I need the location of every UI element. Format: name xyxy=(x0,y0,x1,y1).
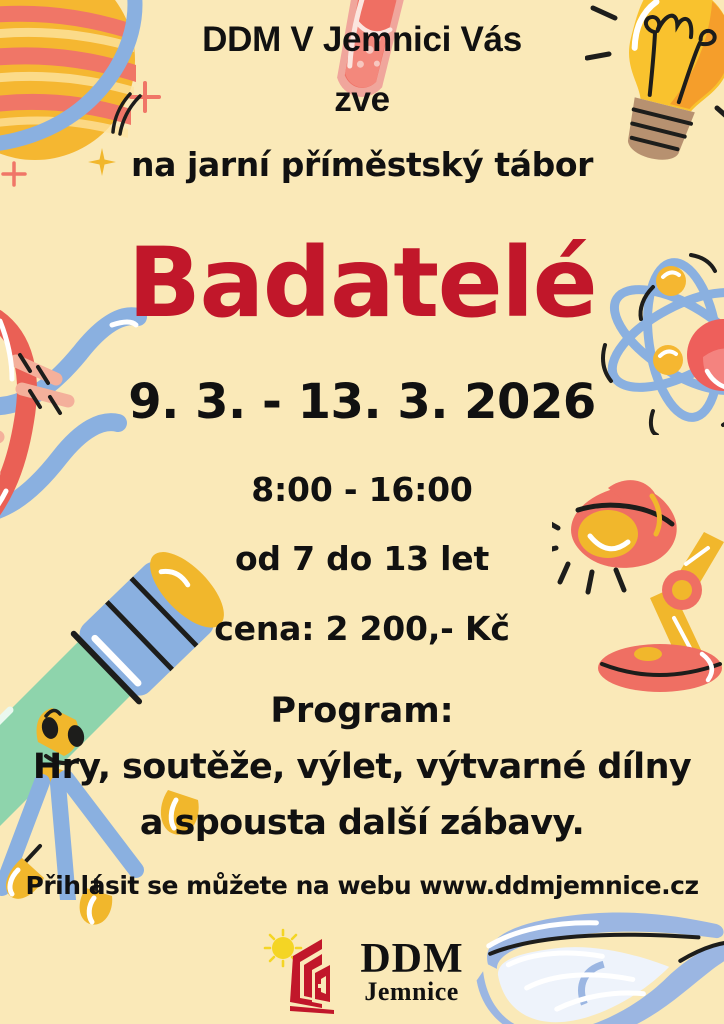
camp-age-range: od 7 do 13 let xyxy=(0,542,724,575)
header-line-1: DDM V Jemnici Vás xyxy=(0,22,724,57)
house-mark xyxy=(290,939,334,1014)
header-line-2: zve xyxy=(0,82,724,117)
poster-canvas: DDM V Jemnici Vás zve na jarní příměstsk… xyxy=(0,0,724,1024)
page-title: Badatelé xyxy=(0,235,724,331)
camp-price: cena: 2 200,- Kč xyxy=(0,612,724,645)
program-line-1: Hry, soutěže, výlet, výtvarné dílny xyxy=(0,750,724,785)
program-heading: Program: xyxy=(0,694,724,729)
logo-wordmark: DDM Jemnice xyxy=(360,940,463,1006)
header-line-3: na jarní příměstský tábor xyxy=(0,148,724,181)
logo-name-top: DDM xyxy=(360,940,463,980)
camp-dates: 9. 3. - 13. 3. 2026 xyxy=(0,378,724,426)
ddm-jemnice-logo: DDM Jemnice xyxy=(0,925,724,1020)
program-line-2: a spousta další zábavy. xyxy=(0,806,724,841)
house-sun-logo-icon xyxy=(260,928,352,1018)
logo-name-bottom: Jemnice xyxy=(360,979,458,1005)
poster-text-layer: DDM V Jemnici Vás zve na jarní příměstsk… xyxy=(0,0,724,1024)
camp-time: 8:00 - 16:00 xyxy=(0,473,724,506)
signup-info: Přihlásit se můžete na webu www.ddmjemni… xyxy=(0,873,724,898)
